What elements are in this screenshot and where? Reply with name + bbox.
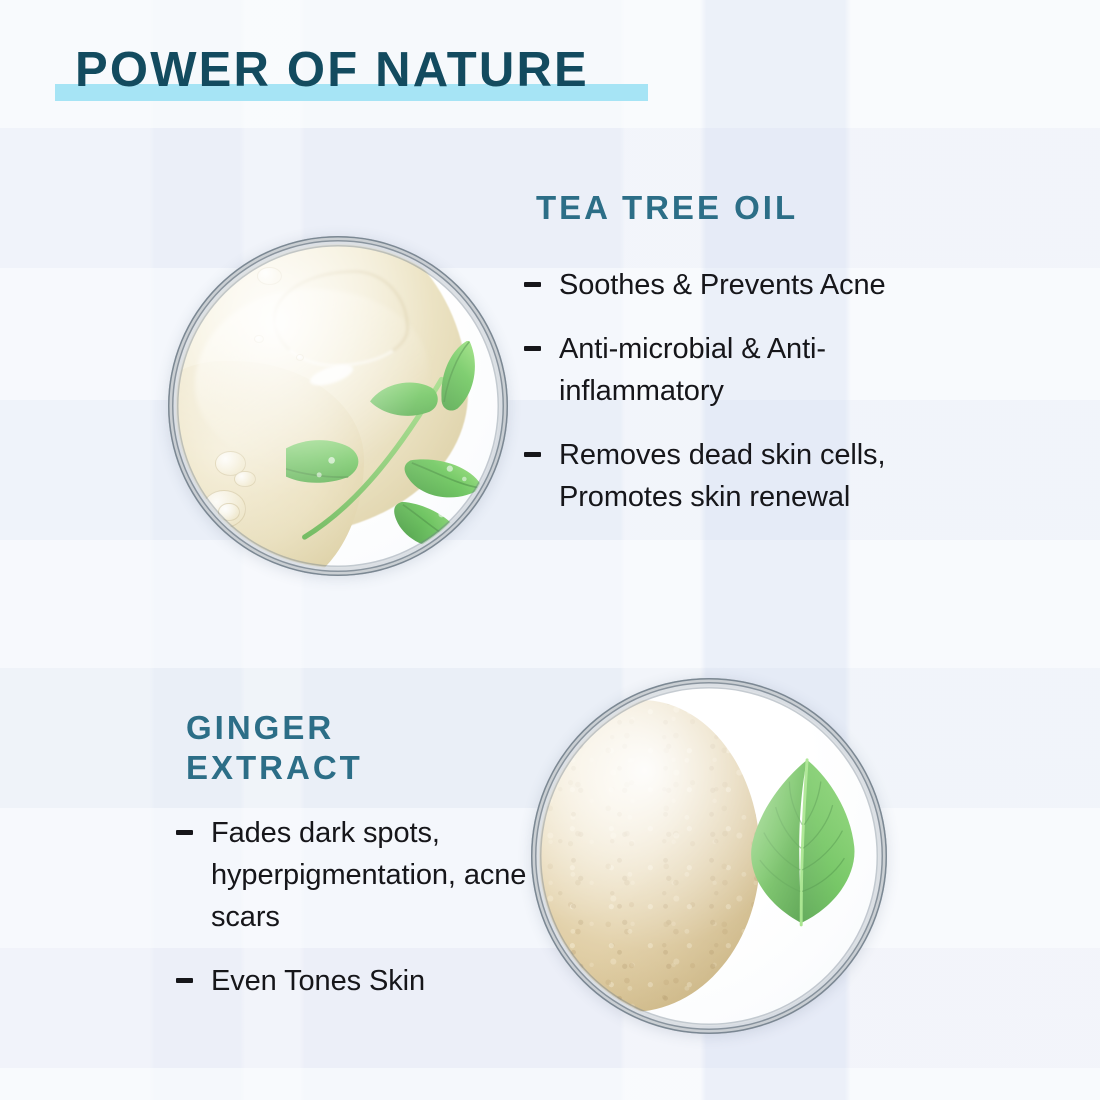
list-item-label: Fades dark spots, hyperpigmentation, acn… xyxy=(211,812,546,938)
list-item-label: Removes dead skin cells, Promotes skin r… xyxy=(559,434,894,518)
dish-contents-tea-tree xyxy=(176,244,500,568)
oil-bubble xyxy=(254,335,264,343)
petri-dish-tea-tree-oil xyxy=(168,236,508,576)
list-item: Even Tones Skin xyxy=(176,960,546,1002)
dash-bullet-icon xyxy=(176,830,193,835)
dash-bullet-icon xyxy=(524,282,541,287)
page-header: POWER OF NATURE xyxy=(55,46,755,116)
section-heading-ginger-extract: GINGER EXTRACT xyxy=(186,708,516,789)
list-item-label: Soothes & Prevents Acne xyxy=(559,264,886,306)
dash-bullet-icon xyxy=(176,978,193,983)
oil-bubble xyxy=(257,267,282,285)
list-item-label: Anti-microbial & Anti-inflammatory xyxy=(559,328,894,412)
green-leaf-icon xyxy=(740,754,862,931)
list-item-label: Even Tones Skin xyxy=(211,960,425,1002)
petri-dish-ginger-extract xyxy=(531,678,887,1034)
benefit-list-ginger-extract: Fades dark spots, hyperpigmentation, acn… xyxy=(176,812,546,1002)
page-title: POWER OF NATURE xyxy=(75,46,589,95)
dash-bullet-icon xyxy=(524,452,541,457)
dish-contents-ginger xyxy=(539,686,879,1026)
ginger-powder-mound xyxy=(539,700,760,1013)
list-item: Removes dead skin cells, Promotes skin r… xyxy=(524,434,894,518)
tea-leaf-sprig-icon xyxy=(286,341,493,555)
ginger-powder-shading xyxy=(539,700,760,1013)
infographic-canvas: POWER OF NATURE xyxy=(0,0,1100,1100)
list-item: Soothes & Prevents Acne xyxy=(524,264,894,306)
oil-bubble xyxy=(234,471,255,488)
benefit-list-tea-tree-oil: Soothes & Prevents Acne Anti-microbial &… xyxy=(524,264,894,518)
oil-bubble xyxy=(218,503,239,521)
list-item: Anti-microbial & Anti-inflammatory xyxy=(524,328,894,412)
list-item: Fades dark spots, hyperpigmentation, acn… xyxy=(176,812,546,938)
dash-bullet-icon xyxy=(524,346,541,351)
section-heading-tea-tree-oil: TEA TREE OIL xyxy=(536,188,798,228)
